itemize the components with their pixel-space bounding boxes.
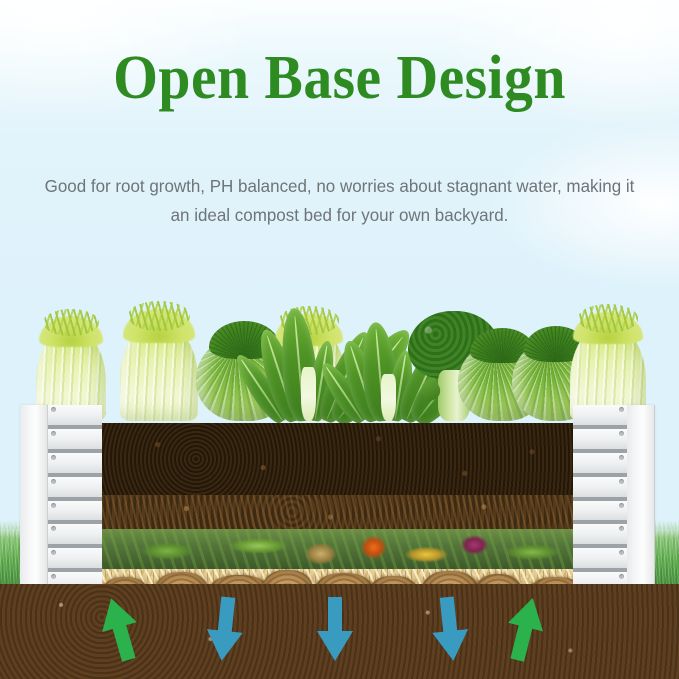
layer-topsoil (100, 423, 580, 495)
leaf-stem (301, 367, 316, 421)
left-corner-post (20, 405, 102, 596)
planter-slat (573, 524, 627, 548)
product-feature-banner: Open Base Design Good for root growth, P… (0, 0, 679, 679)
page-title: Open Base Design (24, 47, 655, 109)
layer-compost (100, 495, 580, 529)
planter-slat (48, 501, 102, 525)
layer-food-scraps (100, 529, 580, 569)
planter-slat (573, 405, 627, 429)
planter-slat (573, 501, 627, 525)
compost-cross-section (100, 423, 580, 590)
planter-slat (573, 453, 627, 477)
water-drain-down-2 (315, 593, 355, 665)
planter-slat (573, 429, 627, 453)
planter-slat (48, 429, 102, 453)
right-corner-post (573, 405, 655, 596)
left-slat-panel (48, 405, 102, 596)
water-drain-down-1 (201, 591, 248, 667)
planter-slat (48, 477, 102, 501)
planter-slat (573, 548, 627, 572)
planter-slat (573, 477, 627, 501)
planter-slat (48, 524, 102, 548)
water-drain-down-3 (426, 591, 473, 667)
right-corner-column (627, 405, 655, 596)
right-slat-panel (573, 405, 627, 596)
planter-slat (48, 548, 102, 572)
vegetable-row (0, 286, 679, 421)
vegetable-napa-cabbage (120, 323, 198, 421)
planter-slat (48, 453, 102, 477)
planter-slat (48, 405, 102, 429)
leaf-stem (381, 374, 396, 421)
page-subtitle: Good for root growth, PH balanced, no wo… (10, 172, 669, 230)
left-corner-column (20, 405, 48, 596)
